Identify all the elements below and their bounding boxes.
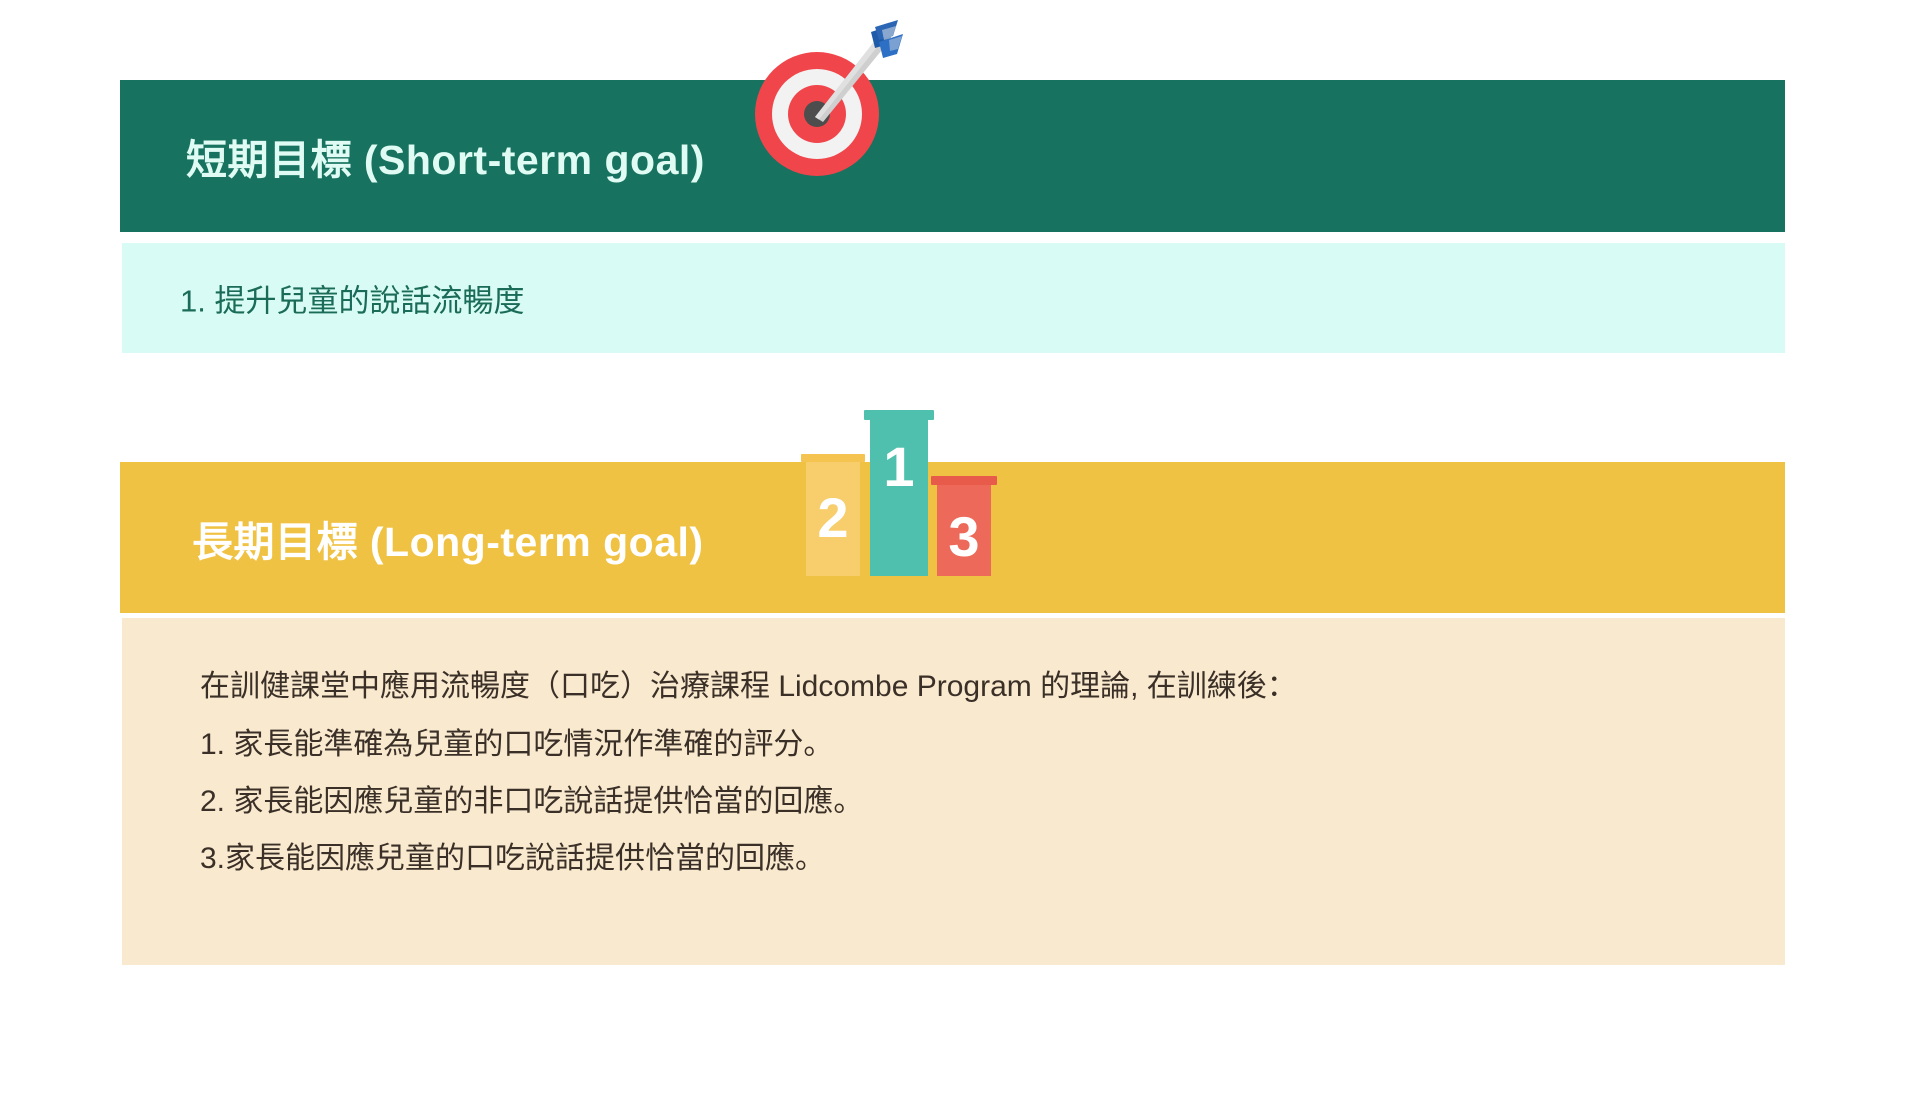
svg-text:1: 1 xyxy=(883,435,914,498)
long-term-goal-item: 2. 家長能因應兒童的非口吃說話提供恰當的回應。 xyxy=(200,787,1755,817)
podium-winners-icon: 2 1 3 xyxy=(795,408,1010,590)
short-term-goal-header: 短期目標 (Short-term goal) xyxy=(120,80,1785,232)
long-term-goal-intro: 在訓健課堂中應用流暢度（口吃）治療課程 Lidcombe Program 的理論… xyxy=(200,672,1755,702)
long-term-goal-title: 長期目標 (Long-term goal) xyxy=(192,508,704,568)
long-term-goal-item: 1. 家長能準確為兒童的口吃情況作準確的評分。 xyxy=(200,730,1755,760)
slide-canvas: 短期目標 (Short-term goal) 1. 提升兒童的說話流暢度 xyxy=(0,0,1920,1106)
long-term-goal-body: 在訓健課堂中應用流暢度（口吃）治療課程 Lidcombe Program 的理論… xyxy=(122,618,1785,965)
long-term-goal-item: 3.家長能因應兒童的口吃說話提供恰當的回應。 xyxy=(200,844,1755,874)
short-term-goal-body: 1. 提升兒童的說話流暢度 xyxy=(122,243,1785,353)
svg-text:2: 2 xyxy=(817,486,848,549)
target-bullseye-arrow-icon xyxy=(755,18,905,198)
short-term-goal-item: 1. 提升兒童的說話流暢度 xyxy=(180,276,524,321)
short-term-goal-title: 短期目標 (Short-term goal) xyxy=(186,126,705,186)
svg-text:3: 3 xyxy=(948,505,979,568)
